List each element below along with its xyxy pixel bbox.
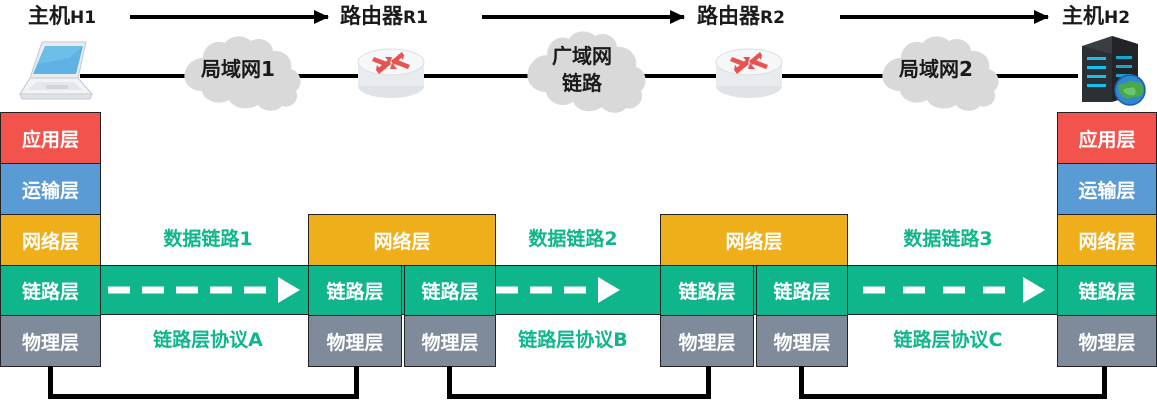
cloud-wan: 广域网 链路 <box>512 28 652 116</box>
caption-protocol-a: 链路层协议A <box>108 325 308 352</box>
node-title-h1-id: H1 <box>70 8 96 28</box>
node-title-h1: 主机H1 <box>28 6 96 27</box>
cloud-wan-label-line2: 链路 <box>512 72 652 95</box>
stack-r1-layer-link-left: 链路层 <box>308 265 402 316</box>
caption-protocol-c: 链路层协议C <box>838 325 1058 352</box>
node-title-r1: 路由器R1 <box>340 6 428 27</box>
node-title-h2-name: 主机 <box>1062 4 1104 28</box>
physical-connector-1-right-drop <box>354 366 359 399</box>
router-icon <box>710 44 788 102</box>
physical-connector-3-right-drop <box>1102 366 1107 399</box>
cloud-lan1-label: 局域网1 <box>168 58 308 81</box>
caption-protocol-b: 链路层协议B <box>478 325 668 352</box>
node-title-h2-id: H2 <box>1104 8 1130 28</box>
router-icon <box>352 44 430 102</box>
physical-connector-3-span <box>799 394 1107 399</box>
stack-h1-layer-transport: 运输层 <box>0 163 101 215</box>
cloud-lan2-label: 局域网2 <box>866 58 1006 81</box>
caption-data-link-3: 数据链路3 <box>838 224 1058 251</box>
stack-h2-layer-link: 链路层 <box>1057 265 1157 316</box>
node-title-r2-name: 路由器 <box>697 4 760 28</box>
stack-r1-layer-physical-left: 物理层 <box>308 315 402 367</box>
node-title-h1-name: 主机 <box>28 4 70 28</box>
physical-connector-2-right-drop <box>706 366 711 399</box>
data-link-arrowhead-1 <box>278 277 300 303</box>
stack-r2-layer-link-left: 链路层 <box>660 265 754 316</box>
node-title-h2: 主机H2 <box>1062 6 1130 27</box>
stack-h2-layer-physical: 物理层 <box>1057 315 1157 367</box>
server-icon <box>1068 32 1152 108</box>
stack-h1-layer-application: 应用层 <box>0 112 101 164</box>
stack-h1-layer-physical: 物理层 <box>0 315 101 367</box>
physical-connector-1-span <box>48 394 359 399</box>
laptop-icon <box>12 38 104 104</box>
node-title-r2-id: R2 <box>760 8 785 28</box>
cloud-lan2: 局域网2 <box>866 34 1006 112</box>
stack-h1-layer-network: 网络层 <box>0 214 101 266</box>
flow-arrow-h1-r1 <box>130 15 328 19</box>
stack-h2-layer-network: 网络层 <box>1057 214 1157 266</box>
physical-connector-2-span <box>447 394 711 399</box>
node-title-r1-id: R1 <box>403 8 428 28</box>
stack-h1-layer-link: 链路层 <box>0 265 101 316</box>
stack-r1-layer-link-right: 链路层 <box>404 265 496 316</box>
node-title-r2: 路由器R2 <box>697 6 785 27</box>
network-layering-diagram: 主机H1 路由器R1 路由器R2 主机H2 局域网1 广域网 链路 局域网2 <box>0 0 1157 411</box>
stack-r2-layer-link-right: 链路层 <box>756 265 848 316</box>
data-link-arrowhead-3 <box>1023 277 1045 303</box>
stack-h2-layer-transport: 运输层 <box>1057 163 1157 215</box>
caption-data-link-1: 数据链路1 <box>108 224 308 251</box>
stack-r1-layer-network: 网络层 <box>308 214 496 266</box>
flow-arrow-r1-r2 <box>482 15 684 19</box>
stack-r2-layer-network: 网络层 <box>660 214 848 266</box>
stack-h2-layer-application: 应用层 <box>1057 112 1157 164</box>
node-title-r1-name: 路由器 <box>340 4 403 28</box>
data-link-arrowhead-2 <box>598 277 620 303</box>
stack-r2-layer-physical-left: 物理层 <box>660 315 754 367</box>
cloud-lan1: 局域网1 <box>168 34 308 112</box>
stack-r2-layer-physical-right: 物理层 <box>756 315 848 367</box>
caption-data-link-2: 数据链路2 <box>478 224 668 251</box>
flow-arrow-r2-h2 <box>840 15 1048 19</box>
cloud-wan-label-line1: 广域网 <box>512 45 652 68</box>
